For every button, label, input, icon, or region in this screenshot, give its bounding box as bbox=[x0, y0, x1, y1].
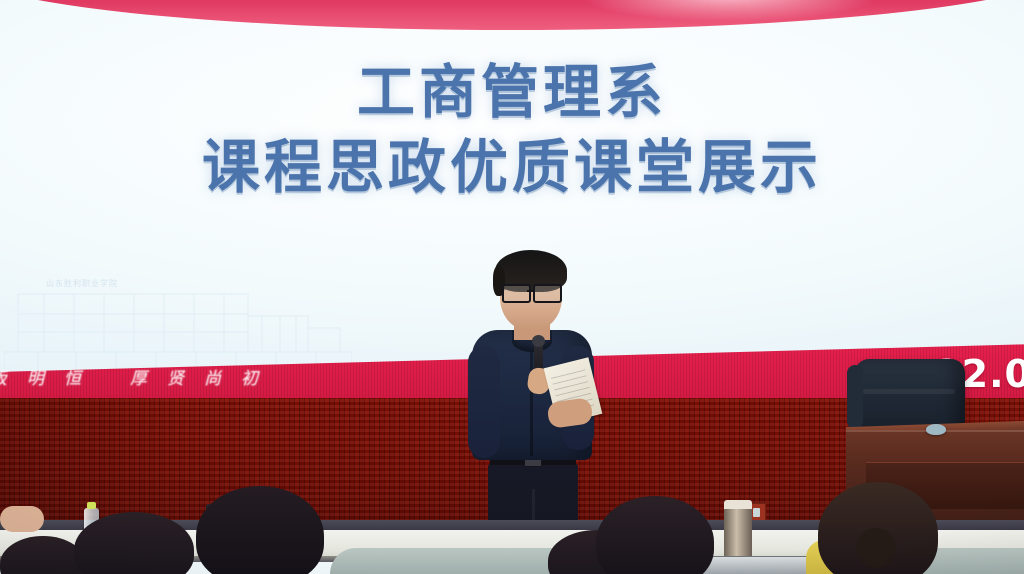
presenter-left-arm bbox=[468, 346, 500, 458]
campus-building-graphic bbox=[4, 276, 352, 376]
motto-char: 明 bbox=[27, 364, 46, 389]
led-band-motto: 饭 明 恒 厚 贤 尚 初 bbox=[0, 364, 260, 389]
shirt-placket bbox=[530, 346, 533, 456]
motto-char: 尚 bbox=[204, 364, 223, 389]
motto-char: 饭 bbox=[0, 364, 9, 389]
slide-title-block: 工商管理系 课程思政优质课堂展示 bbox=[0, 62, 1024, 199]
motto-char: 厚 bbox=[130, 364, 149, 389]
motto-char: 恒 bbox=[64, 364, 83, 389]
eyeglasses-icon bbox=[502, 284, 562, 300]
audience-arm bbox=[0, 506, 44, 532]
campus-graphic-caption: 山东胜利职业学院 bbox=[46, 278, 118, 289]
audience-hair-bun bbox=[856, 528, 896, 568]
slide-title-line-2: 课程思政优质课堂展示 bbox=[0, 137, 1024, 198]
motto-left-group: 饭 明 恒 bbox=[0, 364, 83, 389]
lens-left bbox=[502, 284, 531, 303]
presentation-scene: 山东胜利职业学院 工商管理系 课程思政优质课堂展示 饭 明 恒 厚 贤 尚 初 … bbox=[0, 0, 1024, 574]
slide-title-line-1: 工商管理系 bbox=[0, 62, 1024, 123]
motto-char: 初 bbox=[241, 364, 260, 389]
motto-right-group: 厚 贤 尚 初 bbox=[130, 364, 260, 389]
computer-mouse[interactable] bbox=[926, 424, 946, 435]
lens-right bbox=[533, 284, 562, 303]
motto-char: 贤 bbox=[167, 364, 186, 389]
tumbler-cup[interactable] bbox=[724, 500, 752, 562]
